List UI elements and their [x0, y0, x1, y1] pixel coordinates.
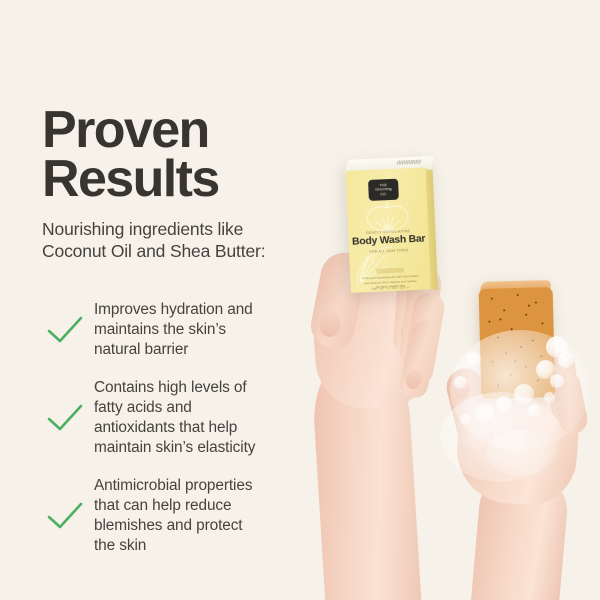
list-item: Antimicrobial properties that can help r… [38, 476, 313, 556]
list-item: Improves hydration and maintains the ski… [38, 300, 313, 360]
marketing-graphic: Proven Results Nourishing ingredients li… [0, 0, 600, 600]
box-product-title: Body Wash Bar [348, 233, 428, 247]
checkmark-icon [38, 494, 92, 538]
brand-logo: THE Grooming CO. [368, 179, 399, 201]
finger-nail [404, 368, 423, 391]
box-badge [376, 267, 404, 273]
page-title: Proven Results [42, 106, 310, 204]
product-box: THE Grooming CO. [345, 156, 437, 294]
box-front-face: THE Grooming CO. [346, 167, 431, 292]
checkmark-icon [38, 396, 92, 440]
copy-block: Proven Results Nourishing ingredients li… [42, 106, 310, 263]
brand-logo-text: THE Grooming CO. [375, 183, 392, 197]
list-item-label: Contains high levels of fatty acids and … [92, 378, 255, 458]
list-item-label: Antimicrobial properties that can help r… [92, 476, 252, 556]
product-photography: THE Grooming CO. [300, 0, 600, 600]
thumb-nail [318, 309, 343, 338]
benefits-list: Improves hydration and maintains the ski… [38, 300, 313, 574]
list-item: Contains high levels of fatty acids and … [38, 378, 313, 458]
subheading: Nourishing ingredients like Coconut Oil … [42, 218, 310, 263]
list-item-label: Improves hydration and maintains the ski… [92, 300, 253, 360]
checkmark-icon [38, 308, 92, 352]
